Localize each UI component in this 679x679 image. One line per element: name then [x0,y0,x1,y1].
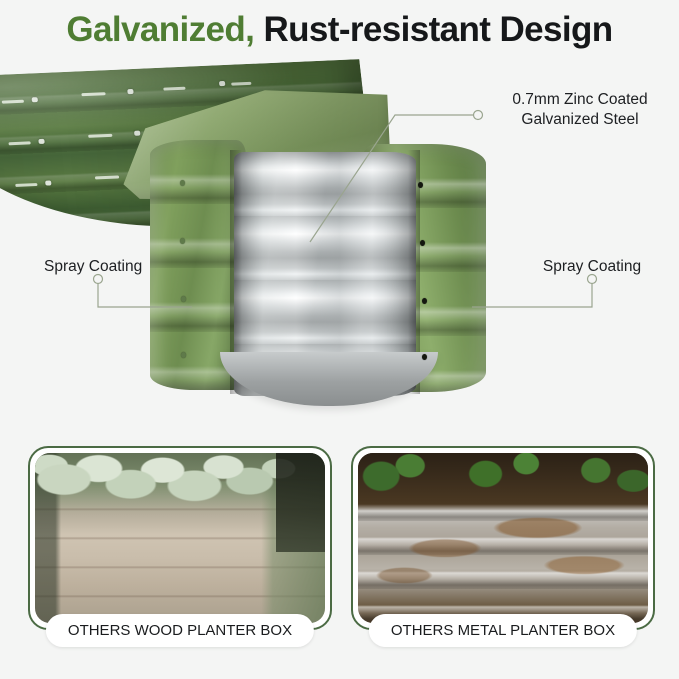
wood-planter-photo [35,453,325,623]
rivet [31,97,38,102]
rivet [219,81,226,86]
screw [180,180,185,186]
screw [418,182,423,188]
rivet [134,131,141,136]
title-highlight: Galvanized, [66,10,254,49]
comparison-cards: OTHERS WOOD PLANTER BOX OTHERS METAL PLA… [0,440,679,665]
callout-zinc-coating: 0.7mm Zinc Coated Galvanized Steel [490,90,670,130]
rivet [45,180,52,185]
callout-spray-coating-right: Spray Coating [522,257,662,277]
infographic-page: Galvanized, Rust-resistant Design [0,0,679,679]
rivet [38,139,45,144]
callout-zinc-coating-line2: Galvanized Steel [490,110,670,130]
wood-planter-image [35,453,325,623]
metal-planter-photo [358,453,648,623]
callout-spray-coating-right-text: Spray Coating [522,257,662,277]
callout-zinc-coating-line1: 0.7mm Zinc Coated [490,90,670,110]
title-rest: Rust-resistant Design [263,10,612,49]
rivet [127,89,134,94]
screw [181,352,186,358]
hero-illustration: 0.7mm Zinc Coated Galvanized Steel Spray… [0,62,679,422]
screw [422,354,427,360]
screw [422,298,427,304]
page-title: Galvanized, Rust-resistant Design [0,10,679,50]
comparison-card-metal: OTHERS METAL PLANTER BOX [351,446,655,630]
metal-planter-caption: OTHERS METAL PLANTER BOX [369,614,637,647]
callout-spray-coating-left-text: Spray Coating [44,257,204,277]
screw [181,296,186,302]
screw [180,238,185,244]
callout-spray-coating-left: Spray Coating [44,257,204,277]
planter-bottom-rim [220,352,438,406]
comparison-card-wood: OTHERS WOOD PLANTER BOX [28,446,332,630]
wood-planter-caption: OTHERS WOOD PLANTER BOX [46,614,314,647]
metal-planter-image [358,453,648,623]
screw [420,240,425,246]
